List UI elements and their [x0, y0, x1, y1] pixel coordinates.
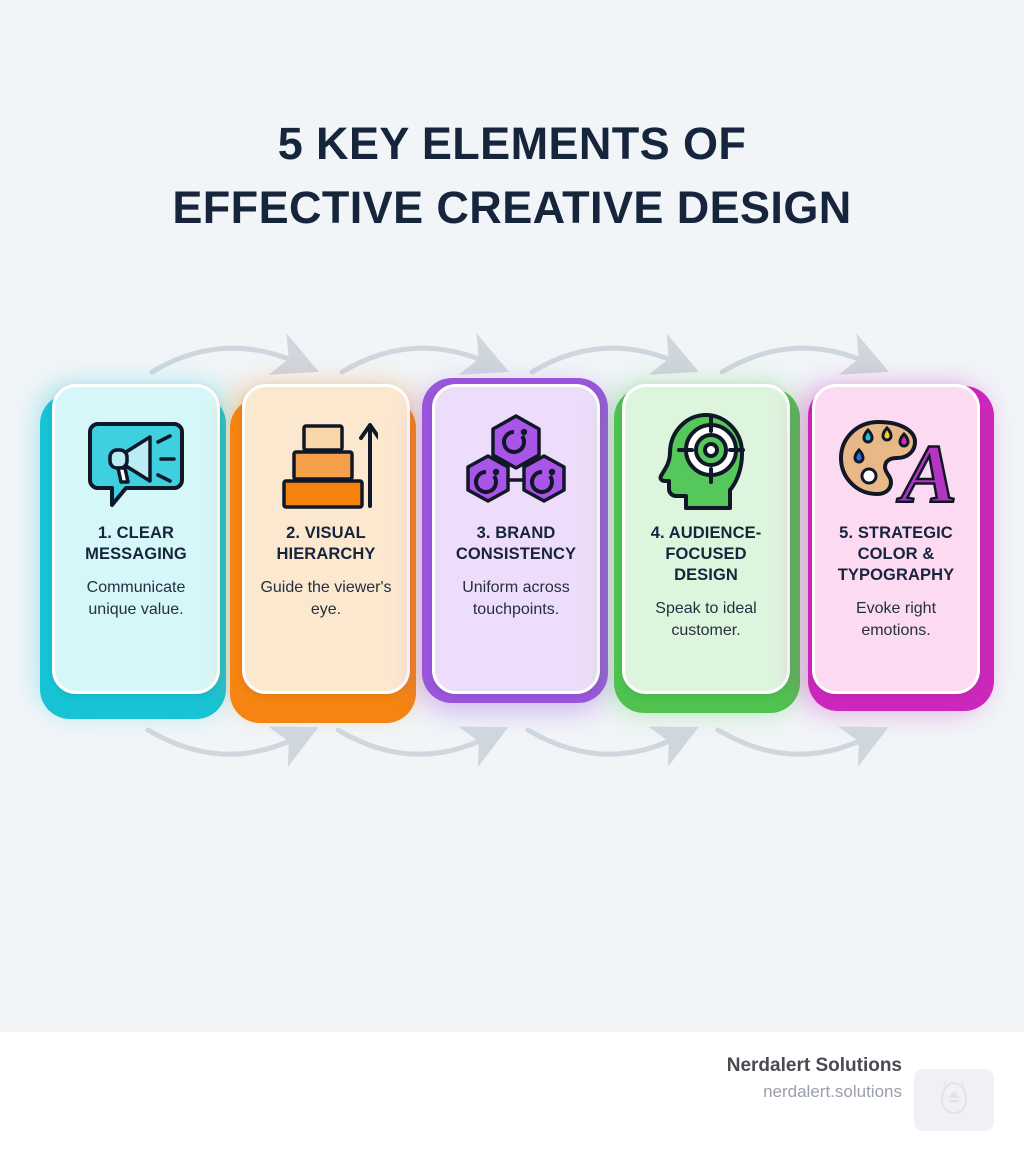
page-title: 5 Key Elements of Effective Creative Des…	[0, 112, 1024, 240]
card-description-2: Guide the viewer's eye.	[254, 577, 398, 621]
arrow-bottom-3	[528, 730, 676, 754]
element-card-3[interactable]: 3. Brand Consistency Uniform across touc…	[418, 384, 608, 714]
brand-name: Nerdalert Solutions	[727, 1054, 902, 1078]
card-title-4: 4. Audience-Focused Design	[634, 523, 778, 586]
megaphone-speech-bubble-icon	[84, 403, 188, 521]
logo-box	[914, 1069, 994, 1131]
arrow-bottom-4	[718, 730, 866, 754]
arrow-top-2	[342, 348, 486, 372]
card-inner-2: 2. Visual Hierarchy Guide the viewer's e…	[242, 384, 410, 694]
page-title-line-1: 5 Key Elements of	[0, 112, 1024, 176]
card-inner-1: 1. Clear Messaging Communicate unique va…	[52, 384, 220, 694]
card-description-1: Communicate unique value.	[64, 577, 208, 621]
element-cards-row: 1. Clear Messaging Communicate unique va…	[38, 384, 990, 714]
card-description-5: Evoke right emotions.	[824, 598, 968, 642]
element-card-5[interactable]: A 5. Strategic Color & Typography Evoke …	[798, 384, 988, 714]
bottom-connector-arrows	[0, 712, 1024, 782]
brand-block: Nerdalert Solutions nerdalert.solutions	[727, 1054, 902, 1104]
card-inner-4: 4. Audience-Focused Design Speak to idea…	[622, 384, 790, 694]
card-inner-3: 3. Brand Consistency Uniform across touc…	[432, 384, 600, 694]
palette-letter-a-icon: A	[837, 403, 955, 521]
stacked-bars-arrow-icon	[274, 403, 378, 521]
card-title-2: 2. Visual Hierarchy	[254, 523, 398, 565]
footer: Nerdalert Solutions nerdalert.solutions	[0, 1032, 1024, 1154]
arrow-bottom-1	[148, 730, 296, 754]
arrow-top-3	[532, 348, 676, 372]
card-inner-5: A 5. Strategic Color & Typography Evoke …	[812, 384, 980, 694]
element-card-1[interactable]: 1. Clear Messaging Communicate unique va…	[38, 384, 228, 714]
card-description-4: Speak to ideal customer.	[634, 598, 778, 642]
page-title-line-2: Effective Creative Design	[0, 176, 1024, 240]
card-title-5: 5. Strategic Color & Typography	[824, 523, 968, 586]
head-target-icon	[654, 403, 758, 521]
card-title-1: 1. Clear Messaging	[64, 523, 208, 565]
element-card-2[interactable]: 2. Visual Hierarchy Guide the viewer's e…	[228, 384, 418, 714]
arrow-bottom-2	[338, 730, 486, 754]
nerdalert-logo-icon	[940, 1081, 968, 1115]
arrow-top-4	[722, 348, 866, 372]
arrow-top-1	[152, 348, 296, 372]
card-title-3: 3. Brand Consistency	[444, 523, 588, 565]
element-card-4[interactable]: 4. Audience-Focused Design Speak to idea…	[608, 384, 798, 714]
brand-url[interactable]: nerdalert.solutions	[727, 1080, 902, 1104]
infographic-canvas: 5 Key Elements of Effective Creative Des…	[0, 0, 1024, 1032]
connected-hexagons-icon	[462, 403, 570, 521]
infographic-page: 5 Key Elements of Effective Creative Des…	[0, 0, 1024, 1154]
svg-text:A: A	[896, 428, 955, 514]
card-description-3: Uniform across touchpoints.	[444, 577, 588, 621]
